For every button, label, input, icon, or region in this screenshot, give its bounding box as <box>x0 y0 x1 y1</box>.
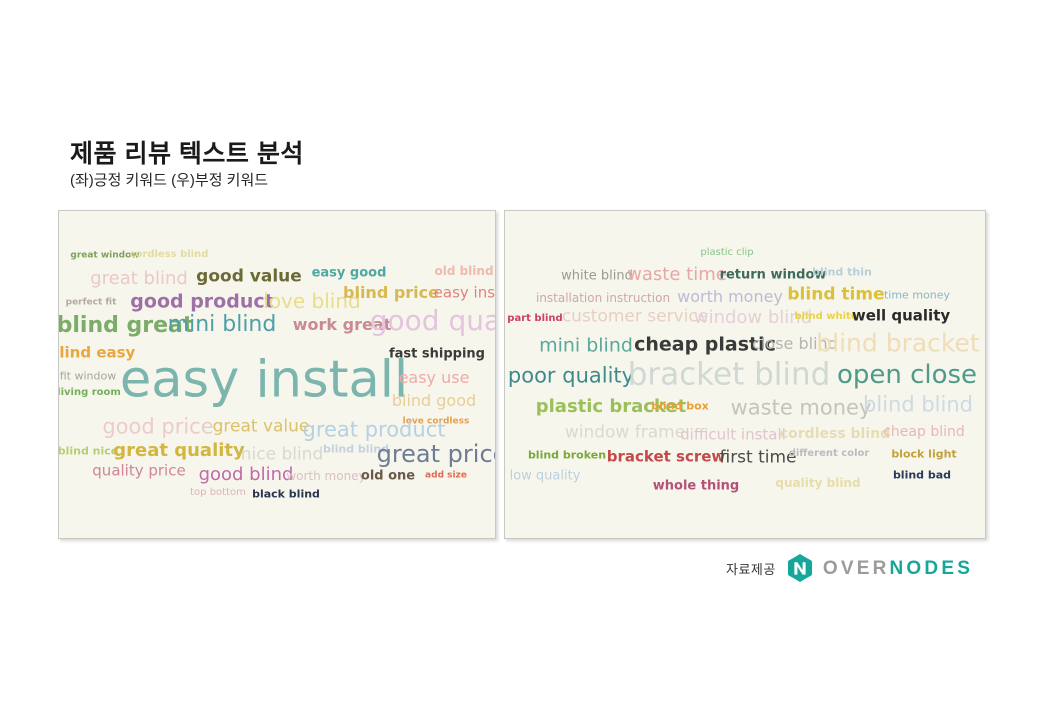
wordcloud-term: well quality <box>852 309 950 324</box>
wordcloud-term: time money <box>884 290 950 301</box>
wordcloud-term: window frame <box>565 425 685 442</box>
wordcloud-term: cordless blind <box>780 427 890 441</box>
wordcloud-term: easy use <box>399 370 470 386</box>
wordcloud-term: good quality <box>370 307 496 335</box>
wordcloud-term: installation instruction <box>536 292 670 304</box>
wordcloud-term: blind price <box>343 285 439 301</box>
wordcloud-term: difficult install <box>680 428 786 443</box>
wordcloud-term: first time <box>719 450 796 467</box>
wordcloud-term: good product <box>130 293 273 312</box>
wordcloud-term: part blind <box>507 314 562 324</box>
wordcloud-term: perfect fit <box>66 299 117 308</box>
positive-keyword-wordcloud-panel: great windowcordless blindgreat blindgoo… <box>58 210 496 539</box>
wordcloud-term: poor quality <box>508 366 634 387</box>
wordcloud-term: whole thing <box>653 480 739 493</box>
page-subtitle: (좌)긍정 키워드 (우)부정 키워드 <box>70 172 670 190</box>
wordcloud-term: easy good <box>312 267 387 280</box>
wordcloud-term: blind bracket <box>816 331 979 356</box>
wordcloud-term: black blind <box>252 489 320 500</box>
credit-label: 자료제공 <box>726 559 776 578</box>
wordcloud-term: mini blind <box>168 314 277 336</box>
wordcloud-term: good price <box>102 417 213 438</box>
wordcloud-term: great price <box>377 442 496 466</box>
slide-header: 제품 리뷰 텍스트 분석 (좌)긍정 키워드 (우)부정 키워드 <box>70 140 670 190</box>
negative-wordcloud-surface: plastic clipwhite blindwaste timereturn … <box>505 211 985 538</box>
wordcloud-term: blind blind <box>863 395 973 416</box>
footer-credit: 자료제공 OVERNODES <box>726 553 973 583</box>
wordcloud-term: blind broken <box>528 450 606 461</box>
wordcloud-term: white blind <box>561 270 633 283</box>
wordcloud-term: blind good <box>392 393 476 409</box>
wordcloud-term: different color <box>789 449 870 459</box>
wordcloud-term: good blind <box>199 466 294 484</box>
wordcloud-term: cordless blind <box>130 250 209 260</box>
wordcloud-term: fit window <box>60 371 116 382</box>
wordcloud-term: return window <box>720 269 827 282</box>
wordcloud-term: easy installation <box>434 286 496 301</box>
wordcloud-term: blind time <box>787 287 884 304</box>
logo-wordmark: OVERNODES <box>823 559 973 578</box>
negative-keyword-wordcloud-panel: plastic clipwhite blindwaste timereturn … <box>504 210 986 539</box>
wordcloud-term: bracket screw <box>607 450 726 465</box>
wordcloud-term: easy install <box>120 355 408 406</box>
wordcloud-term: plastic clip <box>700 248 753 258</box>
wordcloud-term: bracket blind <box>628 360 831 391</box>
wordcloud-term: worth money <box>286 470 365 482</box>
wordcloud-term: great value <box>213 419 310 436</box>
wordcloud-term: great blind <box>90 270 188 288</box>
wordcloud-term: quality blind <box>775 477 860 489</box>
logo-wordmark-over: OVER <box>823 558 890 579</box>
wordcloud-term: cheap blind <box>883 425 965 439</box>
wordcloud-term: blind bad <box>893 470 951 481</box>
wordcloud-term: blind thin <box>812 267 872 278</box>
wordcloud-term: top bottom <box>190 488 246 498</box>
positive-wordcloud-surface: great windowcordless blindgreat blindgoo… <box>59 211 495 538</box>
wordcloud-term: blind box <box>651 401 708 412</box>
wordcloud-term: great quality <box>113 442 245 460</box>
wordcloud-term: blind white <box>794 312 857 322</box>
wordcloud-term: good value <box>196 269 302 286</box>
wordcloud-term: block light <box>891 449 956 460</box>
wordcloud-term: quality price <box>92 464 185 479</box>
wordcloud-term: old blind <box>434 265 493 277</box>
wordcloud-term: mini blind <box>539 337 633 356</box>
wordcloud-term: waste money <box>731 398 872 419</box>
wordcloud-term: blind nice <box>58 446 118 457</box>
wordcloud-term: living room <box>58 388 121 398</box>
wordcloud-term: add size <box>425 472 467 481</box>
overnodes-logo: OVERNODES <box>786 553 973 583</box>
wordcloud-term: low quality <box>510 470 581 483</box>
wordcloud-term: waste time <box>627 266 727 284</box>
hexagon-logo-icon <box>786 553 814 583</box>
wordcloud-term: great product <box>303 420 446 441</box>
wordcloud-term: old one <box>361 470 415 483</box>
wordcloud-term: open close <box>837 362 977 388</box>
logo-wordmark-nodes: NODES <box>890 558 974 579</box>
wordcloud-term: worth money <box>677 289 783 305</box>
wordcloud-term: nice blind <box>241 447 324 464</box>
page-title: 제품 리뷰 텍스트 분석 <box>70 140 670 168</box>
wordcloud-term: customer service <box>562 309 708 326</box>
